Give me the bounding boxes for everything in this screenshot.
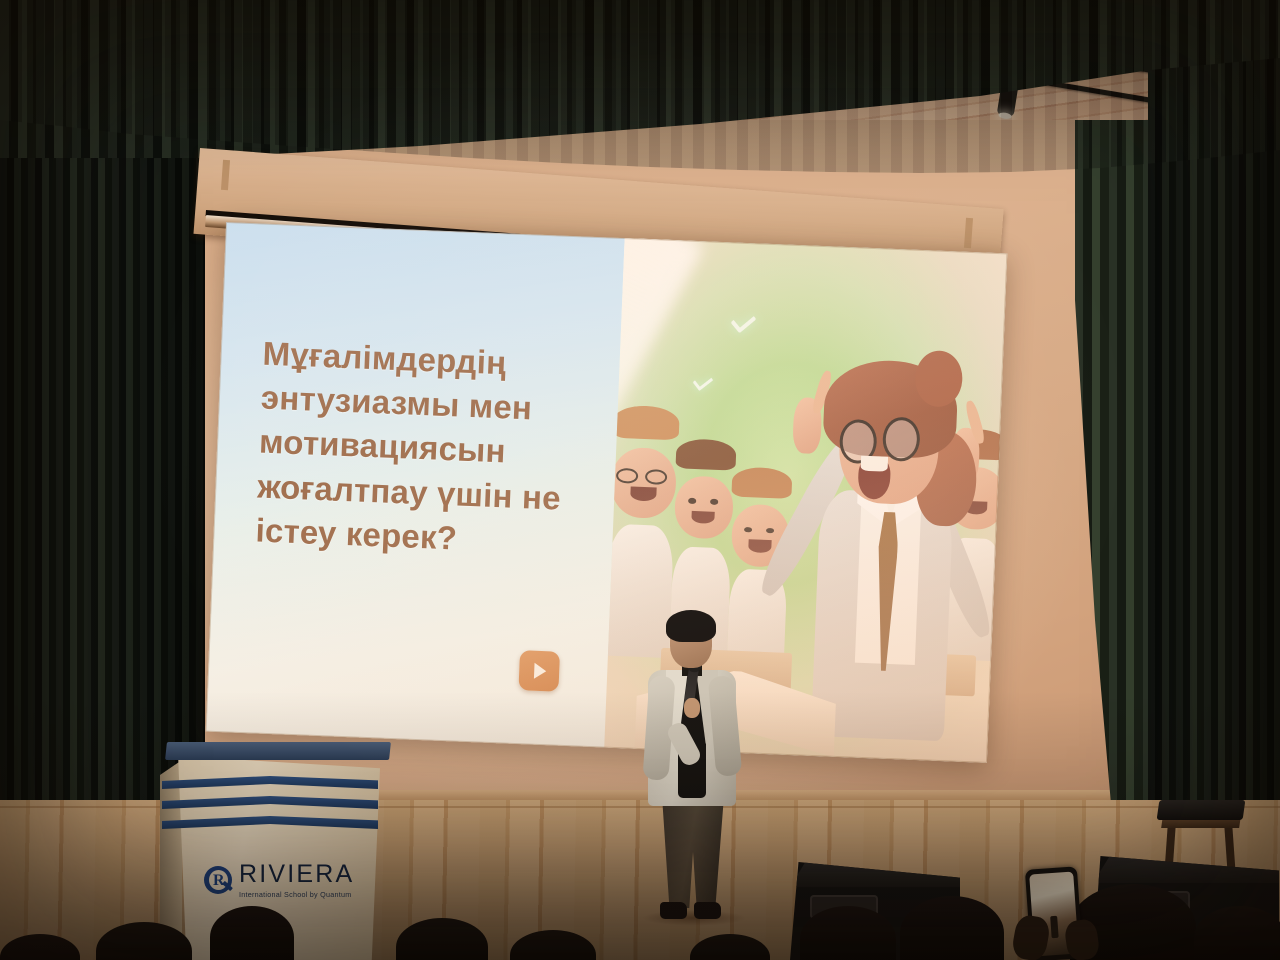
presenter-shoe bbox=[660, 902, 687, 919]
presenter-shoe bbox=[694, 902, 721, 919]
riviera-logo-mark-icon: R bbox=[204, 866, 232, 894]
audience-head bbox=[1194, 906, 1280, 960]
presenter bbox=[636, 610, 748, 930]
presenter-hand bbox=[684, 698, 700, 718]
podium-top-surface bbox=[165, 742, 391, 760]
projection-screen: Мұғалімдердің энтузиазмы мен мотивациясы… bbox=[206, 222, 1008, 763]
bench-seat bbox=[1157, 800, 1246, 820]
presenter-trousers bbox=[662, 796, 724, 908]
riviera-tagline: International School by Quantum bbox=[239, 891, 354, 898]
riviera-brand-name: RIVIERA bbox=[239, 862, 354, 887]
riviera-logo: R RIVIERA International School by Quantu… bbox=[204, 854, 354, 906]
audience-head bbox=[900, 896, 1004, 960]
presenter-hair bbox=[666, 610, 716, 642]
auditorium-photo: Мұғалімдердің энтузиазмы мен мотивациясы… bbox=[0, 0, 1280, 960]
audience-head bbox=[210, 906, 294, 960]
screen-border bbox=[206, 222, 1008, 763]
piano-bench bbox=[1158, 800, 1244, 872]
riviera-logo-text: RIVIERA International School by Quantum bbox=[239, 862, 354, 898]
